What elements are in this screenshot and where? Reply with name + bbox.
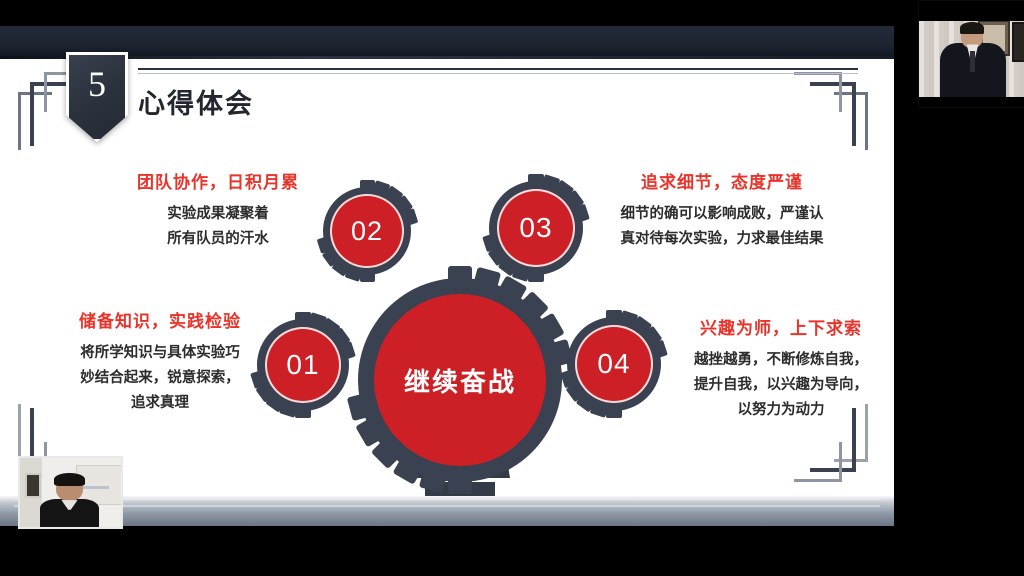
gear-02-label: 02 xyxy=(351,216,383,247)
block-01-heading: 储备知识，实践检验 xyxy=(55,307,265,332)
text-block-01: 储备知识，实践检验 将所学知识与具体实验巧 妙结合起来，锐意探索， 追求真理 xyxy=(55,307,265,416)
gear-03: 03 xyxy=(484,176,588,280)
webcam-bottom-left-video xyxy=(20,458,121,527)
gear-02: 02 xyxy=(318,182,416,280)
letterbox-bar-top xyxy=(919,1,1024,21)
gear-04-core: 04 xyxy=(575,325,653,403)
gear-01-label: 01 xyxy=(286,349,319,381)
webcam-tile-bottom-left[interactable] xyxy=(18,456,123,529)
screen: 5 心得体会 团队协作，日积月累 实验成果凝聚着 所有队员的汗水 追求细节，态度… xyxy=(0,0,1024,576)
presentation-slide: 5 心得体会 团队协作，日积月累 实验成果凝聚着 所有队员的汗水 追求细节，态度… xyxy=(0,26,894,526)
letterbox-bar-bottom xyxy=(919,97,1024,107)
gear-04: 04 xyxy=(562,312,666,416)
page-title: 心得体会 xyxy=(138,82,254,121)
webcam-tile-top-right[interactable] xyxy=(918,0,1024,108)
center-gear-label: 继续奋战 xyxy=(404,362,516,399)
text-block-04: 兴趣为师，上下求索 越挫越勇，不断修炼自我， 提升自我，以兴趣为导向， 以努力为… xyxy=(676,314,886,423)
gear-01: 01 xyxy=(252,314,354,416)
block-04-line-3: 以努力为动力 xyxy=(676,398,886,423)
slide-footer-band xyxy=(0,496,894,526)
gear-03-core: 03 xyxy=(497,189,575,267)
gear-03-label: 03 xyxy=(519,212,552,244)
wall-picture-frame xyxy=(25,473,41,498)
block-01-line-3: 追求真理 xyxy=(55,391,265,416)
slide-header-band xyxy=(0,26,894,59)
person-hair xyxy=(960,22,983,34)
cabinet-detail xyxy=(79,486,109,489)
person-hair xyxy=(54,473,84,485)
title-rule-secondary xyxy=(138,73,858,74)
person-tie xyxy=(970,51,974,72)
gear-02-core: 02 xyxy=(330,194,404,268)
block-04-line-2: 提升自我，以兴趣为导向， xyxy=(676,373,886,398)
section-number-badge: 5 xyxy=(66,52,128,142)
block-04-heading: 兴趣为师，上下求索 xyxy=(676,314,886,339)
wall-picture-frame-secondary xyxy=(1012,22,1024,62)
webcam-top-right-video xyxy=(919,1,1024,107)
gear-04-label: 04 xyxy=(597,348,630,380)
center-gear: 继续奋战 xyxy=(350,270,570,490)
title-rule-primary xyxy=(138,68,858,70)
lightbulb-gear-diagram: 继续奋战 02 xyxy=(240,166,680,526)
block-01-line-1: 将所学知识与具体实验巧 xyxy=(55,341,265,366)
badge-number: 5 xyxy=(66,66,128,102)
gear-01-core: 01 xyxy=(265,327,341,403)
block-04-line-1: 越挫越勇，不断修炼自我， xyxy=(676,348,886,373)
center-gear-core: 继续奋战 xyxy=(374,294,546,466)
block-01-line-2: 妙结合起来，锐意探索， xyxy=(55,366,265,391)
